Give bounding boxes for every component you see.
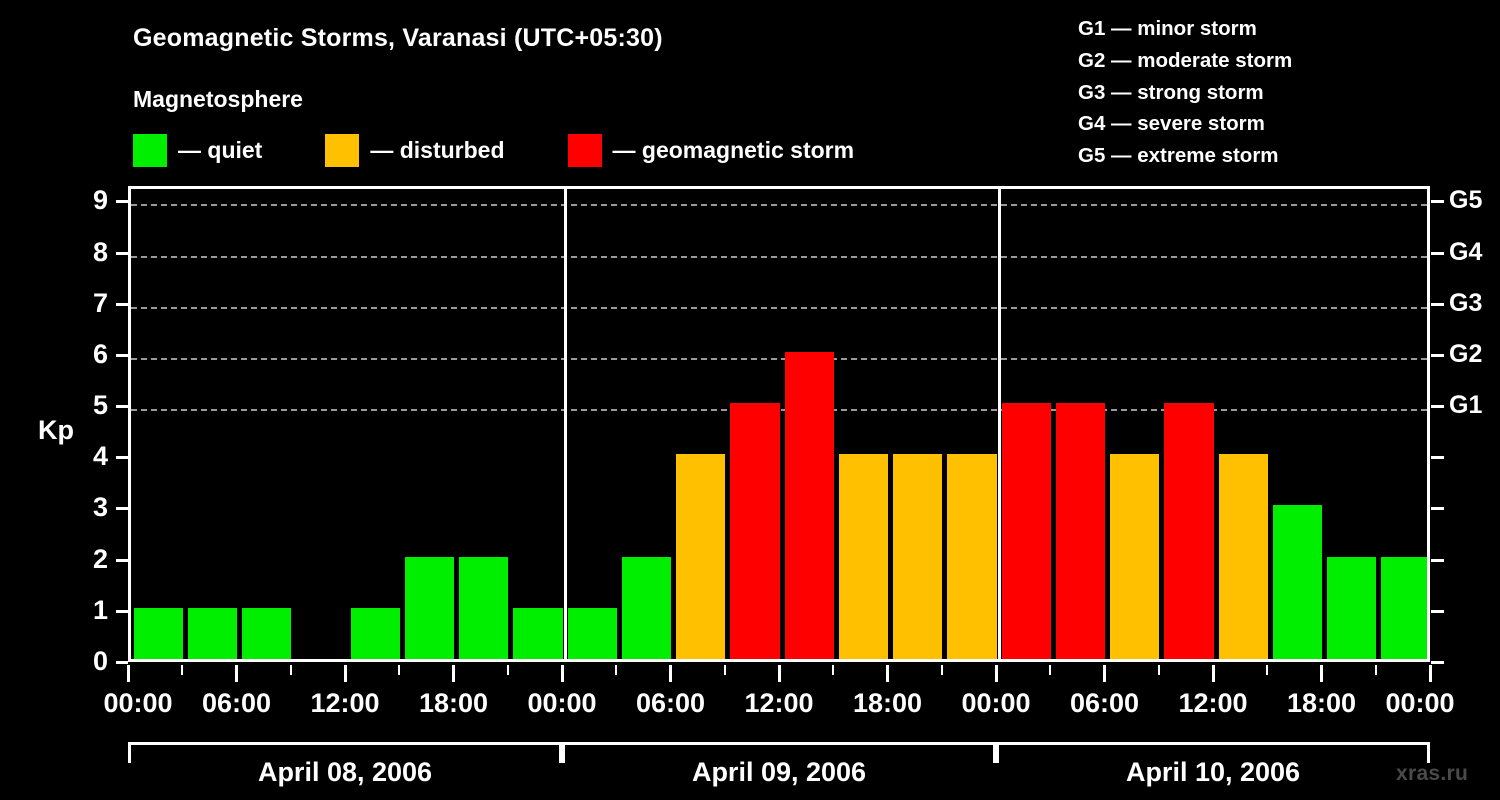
y-tick-label-9: 9 — [74, 187, 108, 214]
x-tick-mark-9 — [1103, 665, 1106, 682]
x-tick-mark-8 — [995, 665, 998, 682]
g-tick-label-G1: G1 — [1449, 393, 1482, 418]
g-axis-minor-tick-0 — [1431, 661, 1444, 664]
day-label-3: April 10, 2006 — [1126, 757, 1300, 788]
y-tick-mark-8 — [116, 252, 128, 255]
y-tick-label-1: 1 — [74, 597, 108, 624]
x-tick-mark-6 — [778, 665, 781, 682]
geomagnetic-storm-chart: Geomagnetic Storms, Varanasi (UTC+05:30)… — [0, 0, 1500, 800]
g-axis-minor-tick-2 — [1431, 559, 1444, 562]
x-tick-mark-1 — [235, 665, 238, 682]
x-tick-mark-7 — [886, 665, 889, 682]
y-tick-mark-5 — [116, 405, 128, 408]
g-axis-minor-tick-3 — [1431, 507, 1444, 510]
x-tick-label-4: 00:00 — [527, 688, 596, 719]
y-tick-label-7: 7 — [74, 290, 108, 317]
x-tick-mark-5 — [669, 665, 672, 682]
x-minor-tick-15 — [398, 665, 400, 675]
y-tick-label-4: 4 — [74, 443, 108, 470]
y-tick-mark-1 — [116, 610, 128, 613]
x-tick-label-8: 00:00 — [961, 688, 1030, 719]
x-tick-mark-2 — [344, 665, 347, 682]
g-tick-mark-G3 — [1431, 303, 1444, 306]
x-minor-tick-69 — [1375, 665, 1377, 675]
x-tick-mark-12 — [1429, 665, 1432, 682]
y-tick-mark-0 — [116, 661, 128, 664]
y-tick-label-6: 6 — [74, 341, 108, 368]
y-tick-mark-9 — [116, 200, 128, 203]
x-tick-mark-10 — [1212, 665, 1215, 682]
g-tick-mark-G5 — [1431, 200, 1444, 203]
y-tick-mark-6 — [116, 354, 128, 357]
g-tick-mark-G4 — [1431, 252, 1444, 255]
y-tick-label-3: 3 — [74, 494, 108, 521]
x-minor-tick-33 — [724, 665, 726, 675]
x-tick-label-1: 06:00 — [202, 688, 271, 719]
g-tick-label-G4: G4 — [1449, 240, 1482, 265]
x-tick-label-2: 12:00 — [310, 688, 379, 719]
x-minor-tick-63 — [1266, 665, 1268, 675]
day-label-1: April 08, 2006 — [258, 757, 432, 788]
y-tick-mark-4 — [116, 456, 128, 459]
x-tick-label-3: 18:00 — [419, 688, 488, 719]
watermark: xras.ru — [1396, 762, 1468, 786]
y-axis-title: Kp — [38, 415, 74, 446]
g-axis-minor-tick-1 — [1431, 610, 1444, 613]
axis-layer: 0123456789G1G2G3G4G500:0006:0012:0018:00… — [0, 0, 1500, 800]
y-tick-mark-3 — [116, 507, 128, 510]
g-tick-label-G5: G5 — [1449, 188, 1482, 213]
y-tick-mark-7 — [116, 303, 128, 306]
x-tick-label-5: 06:00 — [636, 688, 705, 719]
x-tick-label-0: 00:00 — [103, 688, 172, 719]
x-tick-mark-3 — [452, 665, 455, 682]
g-tick-mark-G1 — [1431, 405, 1444, 408]
x-minor-tick-3 — [181, 665, 183, 675]
x-tick-label-9: 06:00 — [1070, 688, 1139, 719]
x-tick-label-12: 00:00 — [1385, 688, 1454, 719]
y-tick-label-8: 8 — [74, 239, 108, 266]
x-minor-tick-51 — [1049, 665, 1051, 675]
x-minor-tick-39 — [832, 665, 834, 675]
day-label-2: April 09, 2006 — [692, 757, 866, 788]
x-minor-tick-27 — [615, 665, 617, 675]
g-tick-label-G2: G2 — [1449, 342, 1482, 367]
y-tick-label-5: 5 — [74, 392, 108, 419]
x-minor-tick-45 — [941, 665, 943, 675]
x-tick-label-11: 18:00 — [1287, 688, 1356, 719]
y-tick-label-2: 2 — [74, 546, 108, 573]
x-minor-tick-57 — [1158, 665, 1160, 675]
g-axis-minor-tick-4 — [1431, 456, 1444, 459]
y-tick-mark-2 — [116, 559, 128, 562]
y-tick-label-0: 0 — [74, 648, 108, 675]
x-minor-tick-9 — [290, 665, 292, 675]
x-tick-mark-4 — [561, 665, 564, 682]
x-tick-label-10: 12:00 — [1178, 688, 1247, 719]
x-tick-label-6: 12:00 — [744, 688, 813, 719]
g-tick-mark-G2 — [1431, 354, 1444, 357]
x-tick-label-7: 18:00 — [853, 688, 922, 719]
x-minor-tick-21 — [507, 665, 509, 675]
x-tick-mark-11 — [1320, 665, 1323, 682]
x-tick-mark-0 — [127, 665, 130, 682]
g-tick-label-G3: G3 — [1449, 291, 1482, 316]
